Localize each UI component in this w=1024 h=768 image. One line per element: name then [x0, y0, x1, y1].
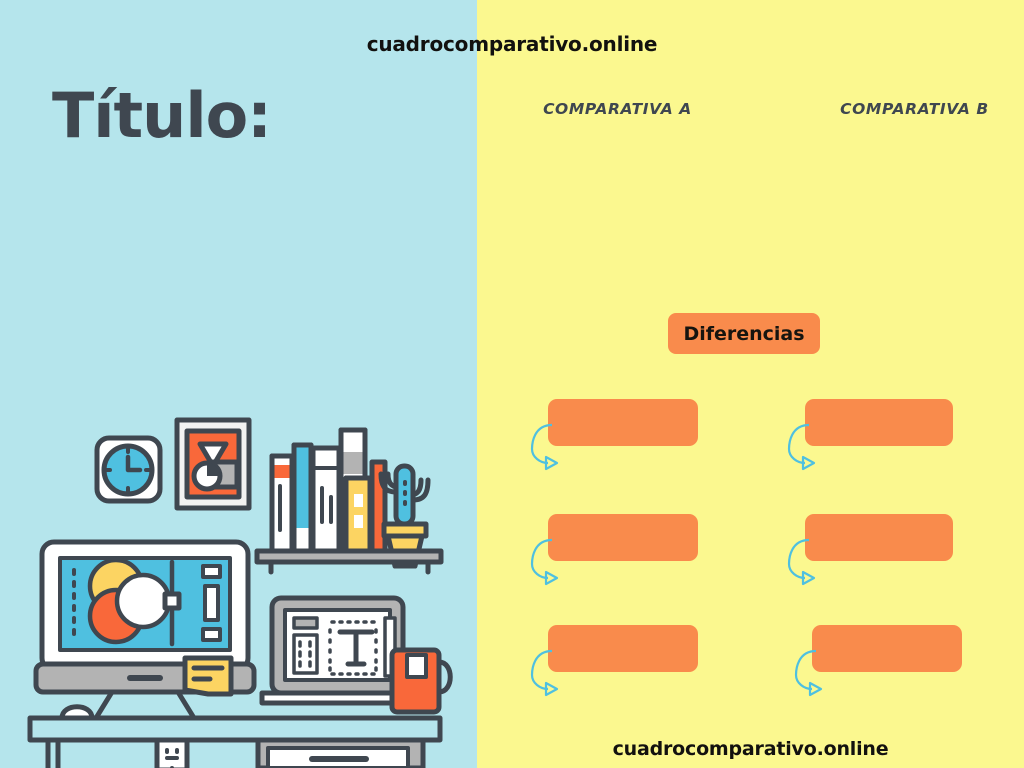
differences-badge: Diferencias: [668, 313, 820, 354]
page-title: Título:: [52, 83, 271, 148]
curved-arrow-icon: [783, 421, 819, 473]
answer-box-a1[interactable]: [548, 399, 698, 446]
slide-canvas: cuadrocomparativo.online Título: COMPARA…: [0, 0, 1024, 768]
wall-clock-icon: [97, 438, 160, 501]
curved-arrow-icon: [783, 536, 819, 588]
sticky-note-icon: [185, 658, 231, 694]
coffee-mug-icon: [392, 650, 450, 712]
column-header-b: COMPARATIVA B: [812, 100, 1017, 118]
curved-arrow-icon: [526, 536, 562, 588]
framed-poster-icon: [177, 420, 249, 508]
brand-bottom-label: cuadrocomparativo.online: [477, 738, 1024, 760]
column-header-a: COMPARATIVA A: [515, 100, 720, 118]
curved-arrow-icon: [526, 421, 562, 473]
curved-arrow-icon: [526, 647, 562, 699]
answer-box-b3[interactable]: [812, 625, 962, 672]
desk-icon: [30, 718, 440, 768]
designer-desk-illustration: [0, 400, 477, 768]
answer-box-b2[interactable]: [805, 514, 953, 561]
wall-outlet-icon: [157, 740, 187, 768]
answer-box-a2[interactable]: [548, 514, 698, 561]
answer-box-a3[interactable]: [548, 625, 698, 672]
answer-box-b1[interactable]: [805, 399, 953, 446]
brand-top-label: cuadrocomparativo.online: [0, 32, 1024, 56]
bookshelf-icon: [257, 430, 441, 572]
curved-arrow-icon: [790, 647, 826, 699]
